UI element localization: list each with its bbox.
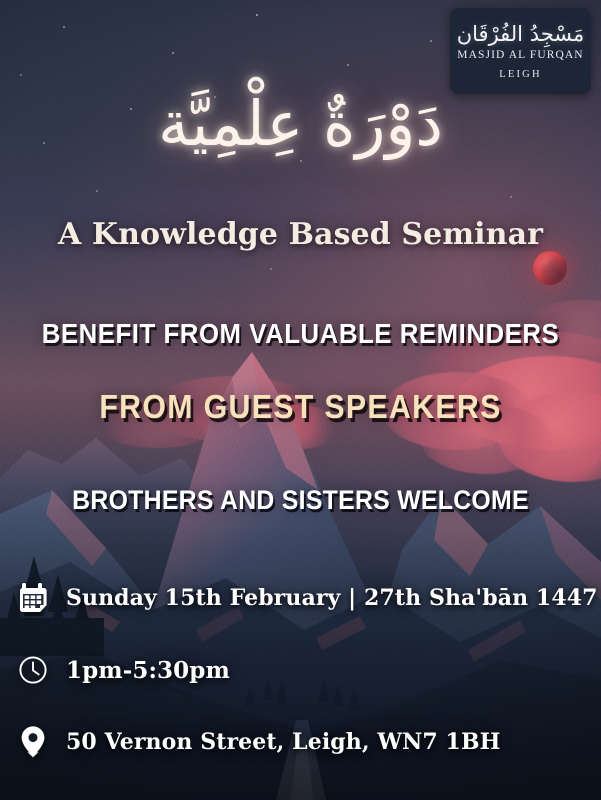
event-address-text: 50 Vernon Street, Leigh, WN7 1BH [66, 729, 501, 755]
location-pin-icon [14, 722, 52, 762]
event-date-text: Sunday 15th February | 27th Sha'bān 1447… [66, 585, 601, 611]
logo-arabic-text: مَسْجِدُ الفُرْقَان [457, 23, 585, 45]
headline-welcome: Brothers And Sisters Welcome [24, 485, 577, 516]
seminar-subtitle: A Knowledge Based Seminar [0, 217, 601, 252]
logo-city: LEIGH [499, 70, 542, 81]
clock-icon [14, 650, 52, 690]
headline-speakers: From Guest Speakers [24, 388, 577, 426]
seminar-poster: مَسْجِدُ الفُرْقَان MASJID AL FURQAN LEI… [0, 0, 601, 800]
headline-reminders: Benefit From Valuable Reminders [24, 318, 577, 350]
arabic-headline: دَوْرَةٌ عِلْمِيَّة [0, 88, 601, 159]
detail-row-time: 1pm-5:30pm [14, 650, 230, 690]
poster-content: مَسْجِدُ الفُرْقَان MASJID AL FURQAN LEI… [0, 0, 601, 800]
calendar-icon [14, 578, 52, 618]
masjid-logo: مَسْجِدُ الفُرْقَان MASJID AL FURQAN LEI… [450, 8, 591, 94]
detail-row-address: 50 Vernon Street, Leigh, WN7 1BH [14, 722, 501, 762]
logo-masjid-name: MASJID AL FURQAN [457, 50, 583, 62]
event-time-text: 1pm-5:30pm [66, 657, 230, 684]
event-date-value: Sunday 15th February | 27th Sha'bān 1447 [66, 585, 598, 611]
detail-row-date: Sunday 15th February | 27th Sha'bān 1447… [14, 578, 601, 618]
